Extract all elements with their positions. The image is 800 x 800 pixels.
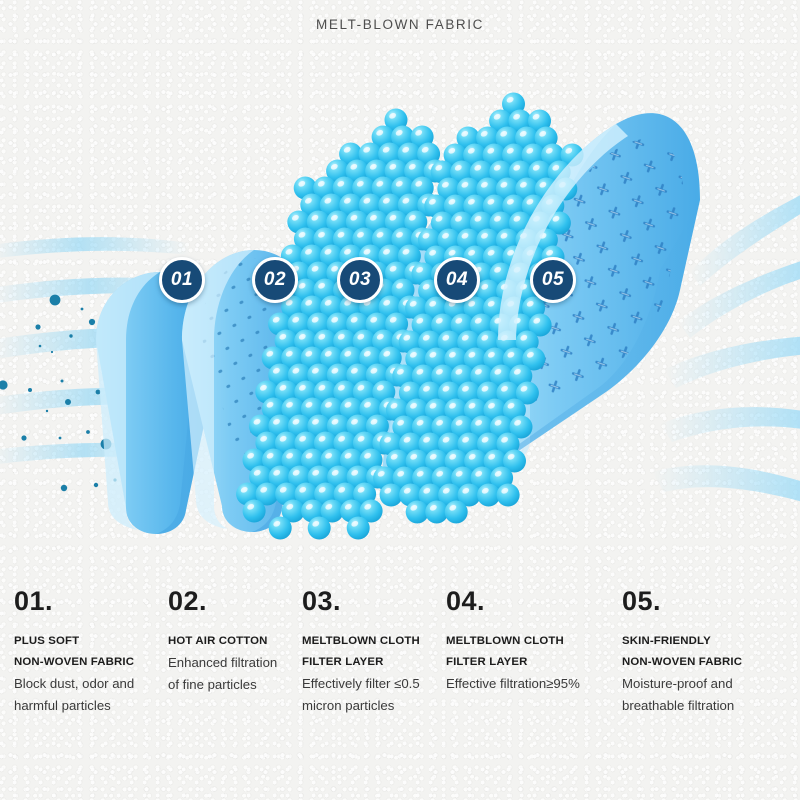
legend-item-03: 03. MELTBLOWN CLOTH FILTER LAYER Effecti… [302,588,420,717]
legend-number-01: 01. [14,588,134,615]
legend-heading-04-line2: FILTER LAYER [446,652,580,673]
legend-item-02: 02. HOT AIR COTTON Enhanced filtration o… [168,588,277,696]
legend-body-03-line2: micron particles [302,695,420,717]
badge-04-label: 04 [446,269,468,291]
badge-04[interactable]: 04 [434,257,480,303]
legend-heading-01-line1: PLUS SOFT [14,631,134,652]
infographic-stage: MELT-BLOWN FABRIC [0,0,800,800]
legend-heading-02-line1: HOT AIR COTTON [168,631,277,652]
badge-05-label: 05 [542,269,564,291]
legend-heading-01-line2: NON-WOVEN FABRIC [14,652,134,673]
legend-body-03-line1: Effectively filter ≤0.5 [302,673,420,695]
legend-number-02: 02. [168,588,277,615]
legend-item-05: 05. SKIN-FRIENDLY NON-WOVEN FABRIC Moist… [622,588,742,717]
legend-item-04: 04. MELTBLOWN CLOTH FILTER LAYER Effecti… [446,588,580,695]
legend-heading-03-line2: FILTER LAYER [302,652,420,673]
legend-item-01: 01. PLUS SOFT NON-WOVEN FABRIC Block dus… [14,588,134,717]
legend-body-01-line1: Block dust, odor and [14,673,134,695]
legend-number-04: 04. [446,588,580,615]
fabric-layers-illustration [0,40,800,570]
legend-heading-05-line2: NON-WOVEN FABRIC [622,652,742,673]
badge-02[interactable]: 02 [252,257,298,303]
legend-row: 01. PLUS SOFT NON-WOVEN FABRIC Block dus… [0,588,800,800]
legend-heading-05-line1: SKIN-FRIENDLY [622,631,742,652]
badge-05[interactable]: 05 [530,257,576,303]
legend-body-02-line1: Enhanced filtration [168,652,277,674]
legend-heading-03-line1: MELTBLOWN CLOTH [302,631,420,652]
meltblown-sphere-matrix [236,93,583,540]
page-title: MELT-BLOWN FABRIC [0,17,800,32]
badge-03[interactable]: 03 [337,257,383,303]
legend-body-05-line2: breathable filtration [622,695,742,717]
badge-03-label: 03 [349,269,371,291]
badge-02-label: 02 [264,269,286,291]
legend-body-02-line2: of fine particles [168,674,277,696]
legend-number-03: 03. [302,588,420,615]
badge-01[interactable]: 01 [159,257,205,303]
legend-heading-04-line1: MELTBLOWN CLOTH [446,631,580,652]
badge-01-label: 01 [171,269,193,291]
legend-body-05-line1: Moisture-proof and [622,673,742,695]
legend-number-05: 05. [622,588,742,615]
legend-body-04-line1: Effective filtration≥95% [446,673,580,695]
legend-body-01-line2: harmful particles [14,695,134,717]
